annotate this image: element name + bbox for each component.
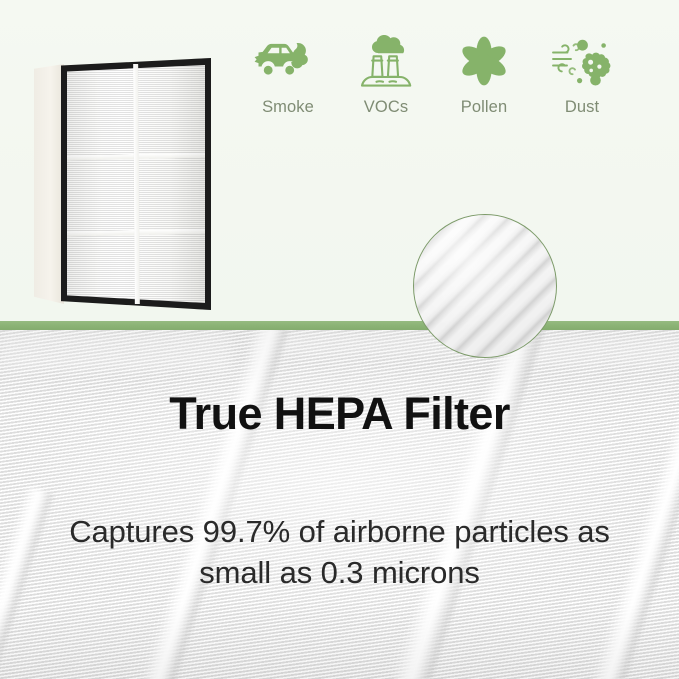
- pollutant-label: VOCs: [364, 98, 408, 117]
- pollutant-icon-row: Smoke: [240, 30, 630, 130]
- product-feature-banner: Smoke: [0, 0, 679, 679]
- pollutant-label: Smoke: [262, 98, 314, 117]
- subtitle: Captures 99.7% of airborne particles as …: [0, 512, 679, 594]
- page-title: True HEPA Filter: [0, 388, 679, 440]
- hepa-filter-product-image: [34, 58, 214, 310]
- top-panel: Smoke: [0, 0, 679, 325]
- bottom-panel: [0, 330, 679, 679]
- green-divider-bar: [0, 321, 679, 330]
- wind-dust-cloud-icon: [549, 30, 615, 92]
- pollutant-item-smoke: Smoke: [240, 30, 336, 117]
- pleated-media-magnified-inset: [413, 214, 557, 358]
- car-exhaust-smoke-icon: [251, 30, 325, 92]
- closeup-shading: [414, 215, 556, 357]
- subtitle-line-1: Captures 99.7% of airborne particles as: [0, 512, 679, 553]
- pollutant-label: Pollen: [461, 98, 507, 117]
- bottom-vignette: [0, 330, 679, 679]
- pollutant-item-pollen: Pollen: [436, 30, 532, 117]
- pollutant-item-vocs: VOCs: [338, 30, 434, 117]
- flower-pollen-icon: [457, 30, 511, 92]
- pollutant-item-dust: Dust: [534, 30, 630, 117]
- filter-side-panel: [34, 64, 64, 304]
- pollutant-label: Dust: [565, 98, 599, 117]
- factory-smokestack-icon: [356, 30, 416, 92]
- subtitle-line-2: small as 0.3 microns: [0, 553, 679, 594]
